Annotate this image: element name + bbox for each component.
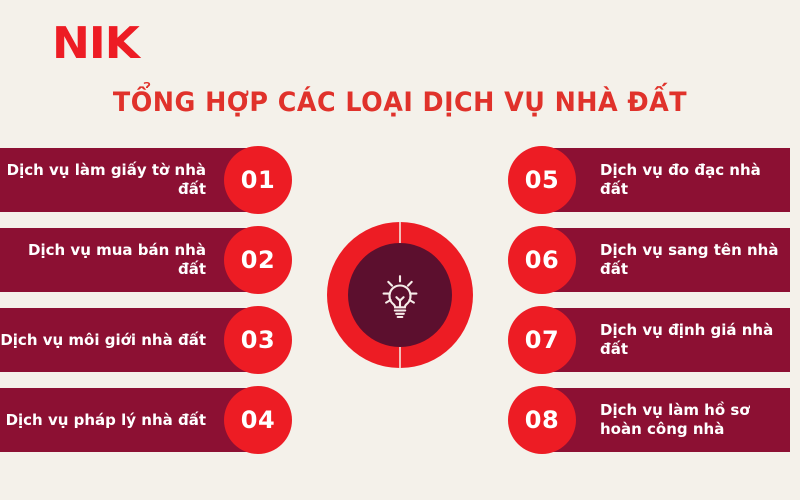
service-row-04[interactable]: Dịch vụ pháp lý nhà đất 04: [0, 388, 292, 452]
service-row-05[interactable]: Dịch vụ đo đạc nhà đất 05: [508, 148, 800, 212]
service-row-06[interactable]: Dịch vụ sang tên nhà đất 06: [508, 228, 800, 292]
service-bar: Dịch vụ pháp lý nhà đất: [0, 388, 258, 452]
service-number-badge: 05: [508, 146, 576, 214]
service-label: Dịch vụ làm hồ sơ hoàn công nhà: [600, 401, 750, 439]
service-row-01[interactable]: Dịch vụ làm giấy tờ nhà đất 01: [0, 148, 292, 212]
service-number-badge: 03: [224, 306, 292, 374]
service-bar: Dịch vụ làm giấy tờ nhà đất: [0, 148, 258, 212]
service-number-badge: 04: [224, 386, 292, 454]
service-label: Dịch vụ định giá nhà đất: [600, 321, 790, 359]
service-number-badge: 02: [224, 226, 292, 294]
service-bar: Dịch vụ làm hồ sơ hoàn công nhà: [542, 388, 790, 452]
service-number-badge: 07: [508, 306, 576, 374]
page-title: TỔNG HỢP CÁC LOẠI DỊCH VỤ NHÀ ĐẤT: [24, 88, 776, 118]
service-row-02[interactable]: Dịch vụ mua bán nhà đất 02: [0, 228, 292, 292]
service-label: Dịch vụ pháp lý nhà đất: [6, 411, 206, 430]
service-row-07[interactable]: Dịch vụ định giá nhà đất 07: [508, 308, 800, 372]
infographic-canvas: NIK TỔNG HỢP CÁC LOẠI DỊCH VỤ NHÀ ĐẤT Dị…: [0, 0, 800, 500]
service-number-badge: 08: [508, 386, 576, 454]
service-row-08[interactable]: Dịch vụ làm hồ sơ hoàn công nhà 08: [508, 388, 800, 452]
service-label: Dịch vụ làm giấy tờ nhà đất: [0, 161, 206, 199]
service-bar: Dịch vụ môi giới nhà đất: [0, 308, 258, 372]
emblem-core: [348, 243, 452, 347]
service-row-03[interactable]: Dịch vụ môi giới nhà đất 03: [0, 308, 292, 372]
service-label: Dịch vụ môi giới nhà đất: [0, 331, 206, 350]
lightbulb-icon: [368, 263, 432, 327]
service-number-badge: 01: [224, 146, 292, 214]
service-label: Dịch vụ sang tên nhà đất: [600, 241, 790, 279]
brand-logo: NIK: [52, 22, 139, 66]
center-emblem: [327, 222, 473, 368]
service-bar: Dịch vụ đo đạc nhà đất: [542, 148, 790, 212]
service-bar: Dịch vụ định giá nhà đất: [542, 308, 790, 372]
service-label: Dịch vụ đo đạc nhà đất: [600, 161, 790, 199]
service-label: Dịch vụ mua bán nhà đất: [0, 241, 206, 279]
service-number-badge: 06: [508, 226, 576, 294]
service-bar: Dịch vụ sang tên nhà đất: [542, 228, 790, 292]
service-bar: Dịch vụ mua bán nhà đất: [0, 228, 258, 292]
